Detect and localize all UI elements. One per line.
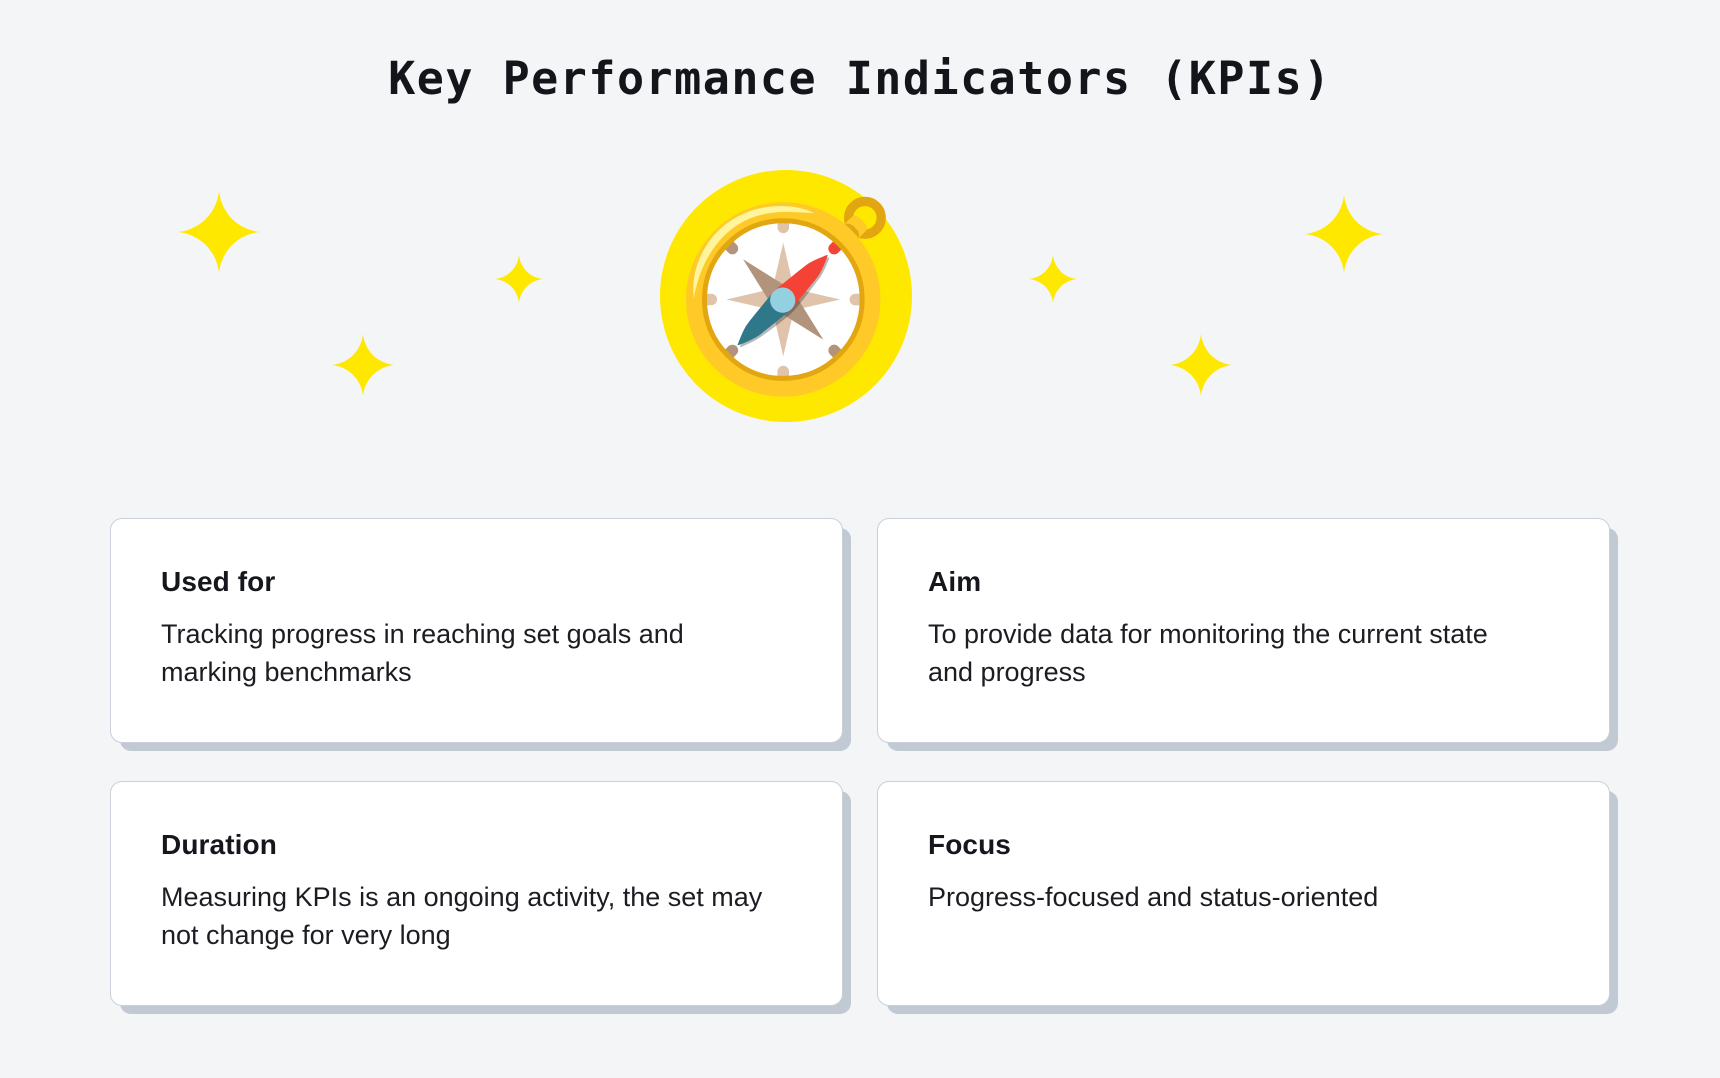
- kpi-card-used-for: Used forTracking progress in reaching se…: [110, 518, 843, 743]
- sparkle-small-right-icon: [1029, 255, 1077, 303]
- kpi-card-focus: FocusProgress-focused and status-oriente…: [877, 781, 1610, 1006]
- sparkle-medium-lower-left-icon: [332, 334, 394, 396]
- page-title: Key Performance Indicators (KPIs): [0, 52, 1720, 105]
- kpi-card-grid: Used forTracking progress in reaching se…: [110, 518, 1610, 1006]
- kpi-card-title: Focus: [928, 828, 1559, 862]
- sparkle-small-left-icon: [495, 255, 543, 303]
- kpi-card-duration: DurationMeasuring KPIs is an ongoing act…: [110, 781, 843, 1006]
- kpi-card-title: Used for: [161, 565, 792, 599]
- compass-emoji-icon: 🧭: [660, 170, 912, 422]
- kpi-card-title: Aim: [928, 565, 1559, 599]
- kpi-card-title: Duration: [161, 828, 792, 862]
- kpi-card-aim: AimTo provide data for monitoring the cu…: [877, 518, 1610, 743]
- kpi-card-body: To provide data for monitoring the curre…: [928, 615, 1538, 692]
- slide-canvas: Key Performance Indicators (KPIs) 🧭 Used…: [0, 0, 1720, 1078]
- kpi-card-body: Tracking progress in reaching set goals …: [161, 615, 771, 692]
- kpi-card-body: Progress-focused and status-oriented: [928, 878, 1538, 916]
- sparkle-large-left-icon: [178, 191, 260, 273]
- sparkle-medium-lower-right-icon: [1170, 334, 1232, 396]
- kpi-card-body: Measuring KPIs is an ongoing activity, t…: [161, 878, 771, 955]
- sparkle-large-right-icon: [1305, 195, 1383, 273]
